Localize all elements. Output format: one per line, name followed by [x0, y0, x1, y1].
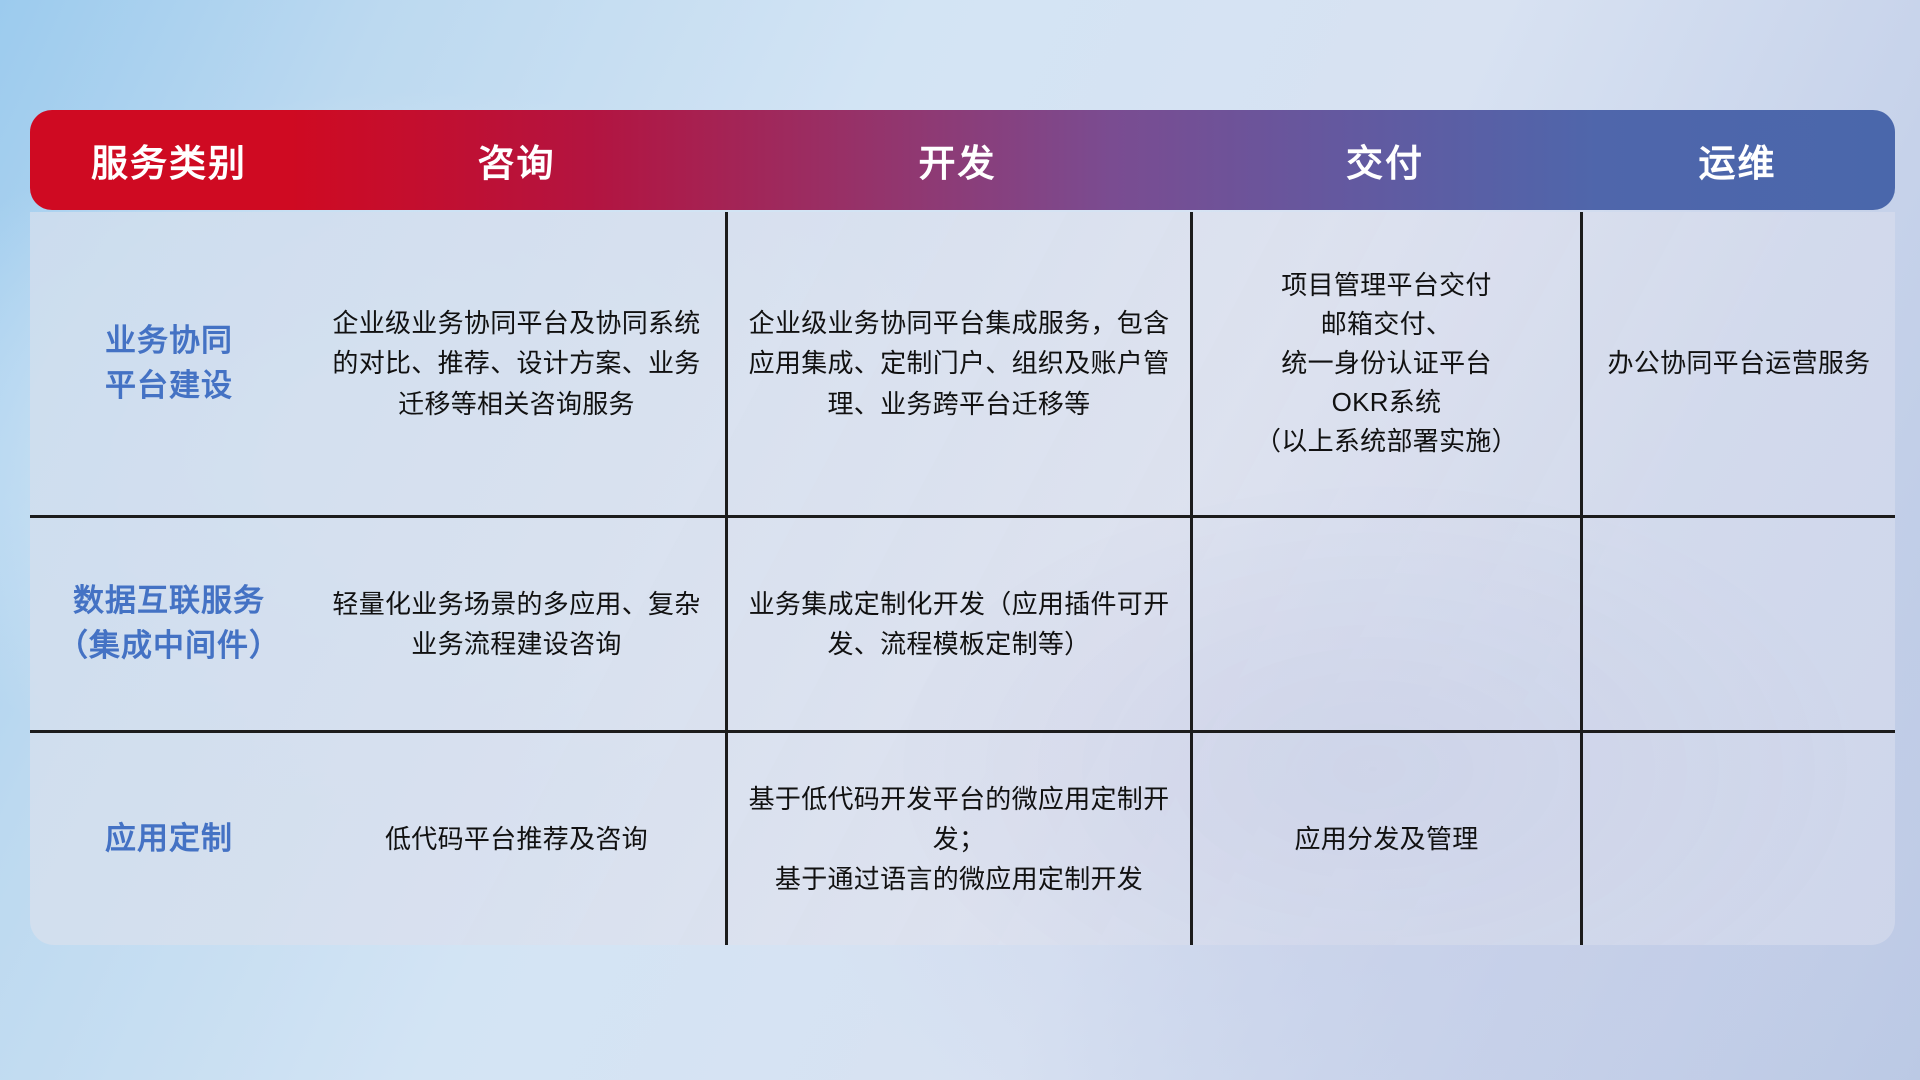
- row1-operations-text: 办公协同平台运营服务: [1607, 344, 1870, 383]
- header-cell-operations: 运维: [1580, 133, 1895, 187]
- header-cell-consulting: 咨询: [308, 133, 725, 187]
- row1-development-cell: 企业级业务协同平台集成服务，包含应用集成、定制门户、组织及账户管理、业务跨平台迁…: [725, 212, 1190, 515]
- row1-delivery-text: 项目管理平台交付邮箱交付、统一身份认证平台OKR系统（以上系统部署实施）: [1255, 266, 1518, 461]
- row2-delivery-cell: [1190, 518, 1580, 730]
- row3-delivery-cell: 应用分发及管理: [1190, 733, 1580, 945]
- row3-consulting-text: 低代码平台推荐及咨询: [385, 820, 648, 859]
- row2-development-text: 业务集成定制化开发（应用插件可开发、流程模板定制等）: [742, 584, 1176, 665]
- row2-operations-cell: [1580, 518, 1895, 730]
- row2-category-cell: 数据互联服务（集成中间件）: [30, 518, 308, 730]
- row3-category-cell: 应用定制: [30, 733, 308, 945]
- row1-delivery-cell: 项目管理平台交付邮箱交付、统一身份认证平台OKR系统（以上系统部署实施）: [1190, 212, 1580, 515]
- row1-operations-cell: 办公协同平台运营服务: [1580, 212, 1895, 515]
- header-cell-development: 开发: [725, 133, 1190, 187]
- table-row: 业务协同平台建设 企业级业务协同平台及协同系统的对比、推荐、设计方案、业务迁移等…: [30, 212, 1895, 515]
- header-cell-service-category: 服务类别: [30, 133, 308, 187]
- row3-delivery-text: 应用分发及管理: [1294, 820, 1478, 859]
- slide-canvas: 服务类别 咨询 开发 交付 运维 业务协同平台建设 企业级业务协同平台及协同系统…: [0, 0, 1920, 1080]
- table-row: 数据互联服务（集成中间件） 轻量化业务场景的多应用、复杂业务流程建设咨询 业务集…: [30, 515, 1895, 730]
- table-row: 应用定制 低代码平台推荐及咨询 基于低代码开发平台的微应用定制开发；基于通过语言…: [30, 730, 1895, 945]
- row3-operations-cell: [1580, 733, 1895, 945]
- row2-category-label: 数据互联服务（集成中间件）: [57, 579, 281, 669]
- row1-development-text: 企业级业务协同平台集成服务，包含应用集成、定制门户、组织及账户管理、业务跨平台迁…: [742, 303, 1176, 424]
- row2-development-cell: 业务集成定制化开发（应用插件可开发、流程模板定制等）: [725, 518, 1190, 730]
- row1-category-cell: 业务协同平台建设: [30, 212, 308, 515]
- row1-category-label: 业务协同平台建设: [105, 319, 233, 409]
- row1-consulting-cell: 企业级业务协同平台及协同系统的对比、推荐、设计方案、业务迁移等相关咨询服务: [308, 212, 725, 515]
- table-header-row: 服务类别 咨询 开发 交付 运维: [30, 110, 1895, 210]
- table-body: 业务协同平台建设 企业级业务协同平台及协同系统的对比、推荐、设计方案、业务迁移等…: [30, 212, 1895, 945]
- row3-development-cell: 基于低代码开发平台的微应用定制开发；基于通过语言的微应用定制开发: [725, 733, 1190, 945]
- row3-consulting-cell: 低代码平台推荐及咨询: [308, 733, 725, 945]
- row1-consulting-text: 企业级业务协同平台及协同系统的对比、推荐、设计方案、业务迁移等相关咨询服务: [322, 303, 711, 424]
- row2-consulting-cell: 轻量化业务场景的多应用、复杂业务流程建设咨询: [308, 518, 725, 730]
- header-cell-delivery: 交付: [1190, 133, 1580, 187]
- row3-category-label: 应用定制: [105, 817, 233, 862]
- row2-consulting-text: 轻量化业务场景的多应用、复杂业务流程建设咨询: [322, 584, 711, 665]
- row3-development-text: 基于低代码开发平台的微应用定制开发；基于通过语言的微应用定制开发: [742, 779, 1176, 900]
